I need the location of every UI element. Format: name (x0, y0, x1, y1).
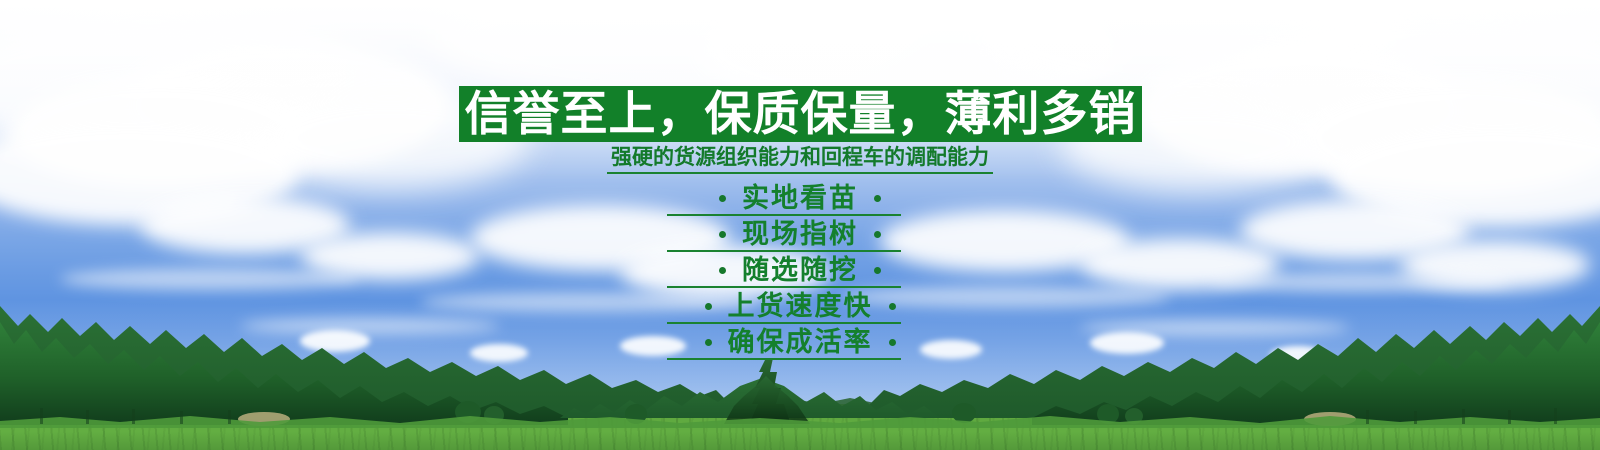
feature-item: 随选随挖 (0, 252, 1600, 288)
feature-label: 随选随挖 (742, 257, 858, 284)
feature-item: 实地看苗 (0, 180, 1600, 216)
headline-text: 信誉至上，保质保量，薄利多销 (465, 91, 1137, 138)
headline-banner: 信誉至上，保质保量，薄利多销 (459, 86, 1142, 142)
bullet-dot-icon (719, 231, 726, 238)
feature-list: 实地看苗 现场指树 随选随挖 上货速度快 确保成活率 (0, 180, 1600, 360)
feature-label: 确保成活率 (728, 329, 873, 356)
bullet-dot-icon (719, 195, 726, 202)
feature-item: 上货速度快 (0, 288, 1600, 324)
feature-label: 现场指树 (742, 221, 858, 248)
bullet-dot-icon (874, 231, 881, 238)
bullet-dot-icon (874, 195, 881, 202)
feature-item: 确保成活率 (0, 324, 1600, 360)
bullet-dot-icon (889, 303, 896, 310)
bullet-dot-icon (719, 267, 726, 274)
subtitle-text: 强硬的货源组织能力和回程车的调配能力 (607, 147, 993, 174)
promo-banner: 信誉至上，保质保量，薄利多销 强硬的货源组织能力和回程车的调配能力 实地看苗 现… (0, 0, 1600, 450)
bullet-dot-icon (889, 339, 896, 346)
feature-item: 现场指树 (0, 216, 1600, 252)
subtitle: 强硬的货源组织能力和回程车的调配能力 (0, 147, 1600, 174)
feature-label: 实地看苗 (742, 185, 858, 212)
bullet-dot-icon (705, 303, 712, 310)
bullet-dot-icon (705, 339, 712, 346)
feature-label: 上货速度快 (728, 293, 873, 320)
bullet-dot-icon (874, 267, 881, 274)
